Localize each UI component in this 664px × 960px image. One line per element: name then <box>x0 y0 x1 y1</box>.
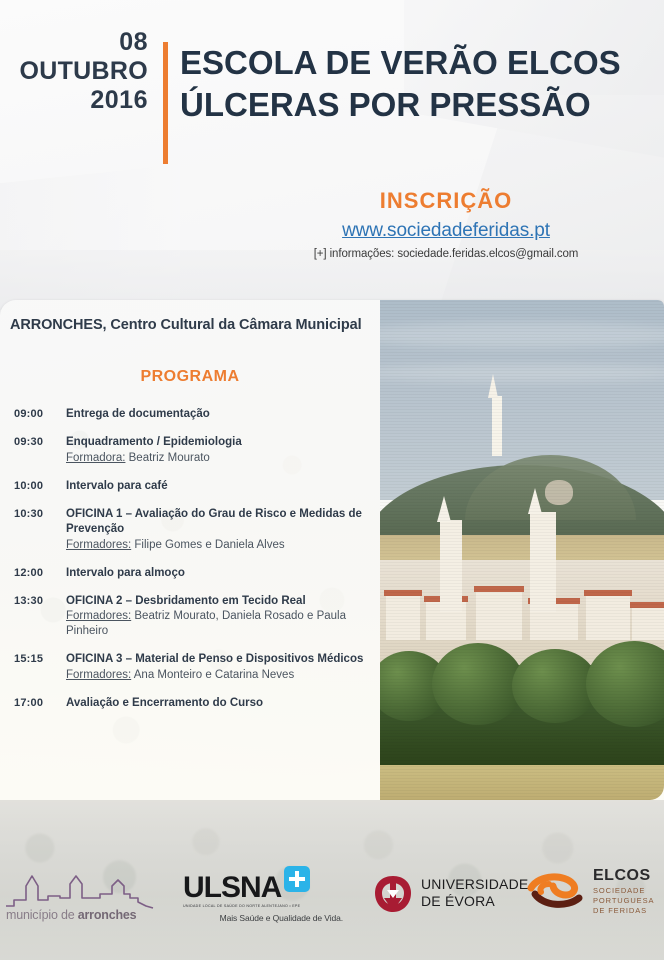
logo-ulsna: ULSNA UNIDADE LOCAL DE SAÚDE DO NORTE AL… <box>183 866 343 922</box>
poster: 08 OUTUBRO 2016 ESCOLA DE VERÃO ELCOS ÚL… <box>0 0 664 960</box>
schedule-row: 13:30OFICINA 2 – Desbridamento em Tecido… <box>14 594 380 640</box>
schedule-description: OFICINA 2 – Desbridamento em Tecido Real… <box>66 594 380 640</box>
date-month: OUTUBRO <box>0 58 152 84</box>
schedule-title: OFICINA 1 – Avaliação do Grau de Risco e… <box>66 508 362 535</box>
schedule-list: 09:00Entrega de documentação09:30Enquadr… <box>14 407 380 724</box>
schedule-time: 13:30 <box>14 594 66 640</box>
evora-crest-icon <box>373 874 413 914</box>
schedule-title: OFICINA 2 – Desbridamento em Tecido Real <box>66 595 306 607</box>
schedule-trainers-label: Formadores: <box>66 669 131 681</box>
logo-elcos: ELCOS SOCIEDADE PORTUGUESA DE FERIDAS <box>527 866 659 922</box>
schedule-row: 09:30Enquadramento / EpidemiologiaFormad… <box>14 435 380 466</box>
schedule-trainers-names: Beatriz Mourato <box>125 452 209 464</box>
arronches-wordmark: município de arronches <box>6 908 152 922</box>
elcos-sub-line-1: SOCIEDADE <box>593 886 654 896</box>
schedule-row: 10:30OFICINA 1 – Avaliação do Grau de Ri… <box>14 507 380 553</box>
schedule-description: OFICINA 3 – Material de Penso e Disposit… <box>66 652 380 683</box>
schedule-description: Avaliação e Encerramento do Curso <box>66 696 380 711</box>
schedule-time: 17:00 <box>14 696 66 711</box>
elcos-swirl-icon <box>527 872 589 912</box>
schedule-row: 10:00Intervalo para café <box>14 479 380 494</box>
schedule-trainers-label: Formadores: <box>66 539 131 551</box>
registration-block: INSCRIÇÃO www.sociedadeferidas.pt [+] in… <box>266 188 626 260</box>
schedule-time: 10:30 <box>14 507 66 553</box>
arronches-prefix: município de <box>6 908 78 922</box>
elcos-sub-line-3: DE FERIDAS <box>593 906 654 916</box>
evora-wordmark: UNIVERSIDADE DE ÉVORA <box>421 876 528 910</box>
schedule-title: Intervalo para almoço <box>66 567 185 579</box>
schedule-title: Enquadramento / Epidemiologia <box>66 436 242 448</box>
arronches-skyline-icon <box>4 872 154 912</box>
registration-heading: INSCRIÇÃO <box>266 188 626 214</box>
registration-info-email[interactable]: [+] informações: sociedade.feridas.elcos… <box>266 248 626 260</box>
schedule-time: 10:00 <box>14 479 66 494</box>
elcos-name: ELCOS <box>593 868 654 884</box>
poster-header: 08 OUTUBRO 2016 ESCOLA DE VERÃO ELCOS ÚL… <box>0 30 664 160</box>
schedule-trainers-names: Filipe Gomes e Daniela Alves <box>131 539 284 551</box>
date-year: 2016 <box>0 87 152 113</box>
logo-universidade-evora: UNIVERSIDADE DE ÉVORA <box>373 872 513 918</box>
schedule-description: Enquadramento / EpidemiologiaFormadora: … <box>66 435 380 466</box>
schedule-trainers-label: Formadora: <box>66 452 125 464</box>
title-line-1: ESCOLA DE VERÃO ELCOS <box>180 42 621 84</box>
page-title: ESCOLA DE VERÃO ELCOS ÚLCERAS POR PRESSÃ… <box>180 42 621 126</box>
programme-content: ARRONCHES, Centro Cultural da Câmara Mun… <box>0 300 380 800</box>
programme-card: ARRONCHES, Centro Cultural da Câmara Mun… <box>0 300 664 800</box>
schedule-row: 09:00Entrega de documentação <box>14 407 380 422</box>
ulsna-tagline: Mais Saúde e Qualidade de Vida. <box>183 913 343 923</box>
schedule-description: Entrega de documentação <box>66 407 380 422</box>
evora-line-1: UNIVERSIDADE <box>421 876 528 893</box>
elcos-subtitle: SOCIEDADE PORTUGUESA DE FERIDAS <box>593 886 654 916</box>
programme-heading: PROGRAMA <box>0 368 380 386</box>
schedule-trainers: Formadores: Beatriz Mourato, Daniela Ros… <box>66 609 380 639</box>
registration-url-link[interactable]: www.sociedadeferidas.pt <box>266 220 626 242</box>
event-date: 08 OUTUBRO 2016 <box>0 30 152 114</box>
schedule-trainers: Formadores: Ana Monteiro e Catarina Neve… <box>66 668 380 683</box>
schedule-description: Intervalo para café <box>66 479 380 494</box>
elcos-sub-line-2: PORTUGUESA <box>593 896 654 906</box>
schedule-description: Intervalo para almoço <box>66 566 380 581</box>
date-day: 08 <box>0 30 152 55</box>
schedule-row: 15:15OFICINA 3 – Material de Penso e Dis… <box>14 652 380 683</box>
elcos-wordmark: ELCOS SOCIEDADE PORTUGUESA DE FERIDAS <box>593 868 654 916</box>
schedule-time: 15:15 <box>14 652 66 683</box>
venue-text: ARRONCHES, Centro Cultural da Câmara Mun… <box>10 317 362 333</box>
schedule-title: Avaliação e Encerramento do Curso <box>66 697 263 709</box>
ulsna-wordmark: ULSNA <box>183 866 343 903</box>
photo-grain <box>380 300 664 800</box>
logo-arronches: município de arronches <box>4 872 154 924</box>
arronches-name: arronches <box>78 908 137 922</box>
schedule-time: 12:00 <box>14 566 66 581</box>
title-line-2: ÚLCERAS POR PRESSÃO <box>180 84 621 126</box>
medical-cross-icon <box>284 866 310 892</box>
schedule-time: 09:30 <box>14 435 66 466</box>
schedule-title: OFICINA 3 – Material de Penso e Disposit… <box>66 653 363 665</box>
schedule-title: Intervalo para café <box>66 480 168 492</box>
ulsna-subtitle: UNIDADE LOCAL DE SAÚDE DO NORTE ALENTEJA… <box>183 904 343 908</box>
schedule-title: Entrega de documentação <box>66 408 210 420</box>
schedule-row: 12:00Intervalo para almoço <box>14 566 380 581</box>
schedule-trainers: Formadora: Beatriz Mourato <box>66 451 380 466</box>
header-divider <box>163 42 168 164</box>
village-photo <box>380 300 664 800</box>
schedule-trainers: Formadores: Filipe Gomes e Daniela Alves <box>66 538 380 553</box>
schedule-trainers-names: Ana Monteiro e Catarina Neves <box>131 669 294 681</box>
schedule-description: OFICINA 1 – Avaliação do Grau de Risco e… <box>66 507 380 553</box>
schedule-time: 09:00 <box>14 407 66 422</box>
evora-line-2: DE ÉVORA <box>421 893 528 910</box>
schedule-row: 17:00Avaliação e Encerramento do Curso <box>14 696 380 711</box>
schedule-trainers-label: Formadores: <box>66 610 131 622</box>
ulsna-letters: ULSNA <box>183 871 281 904</box>
